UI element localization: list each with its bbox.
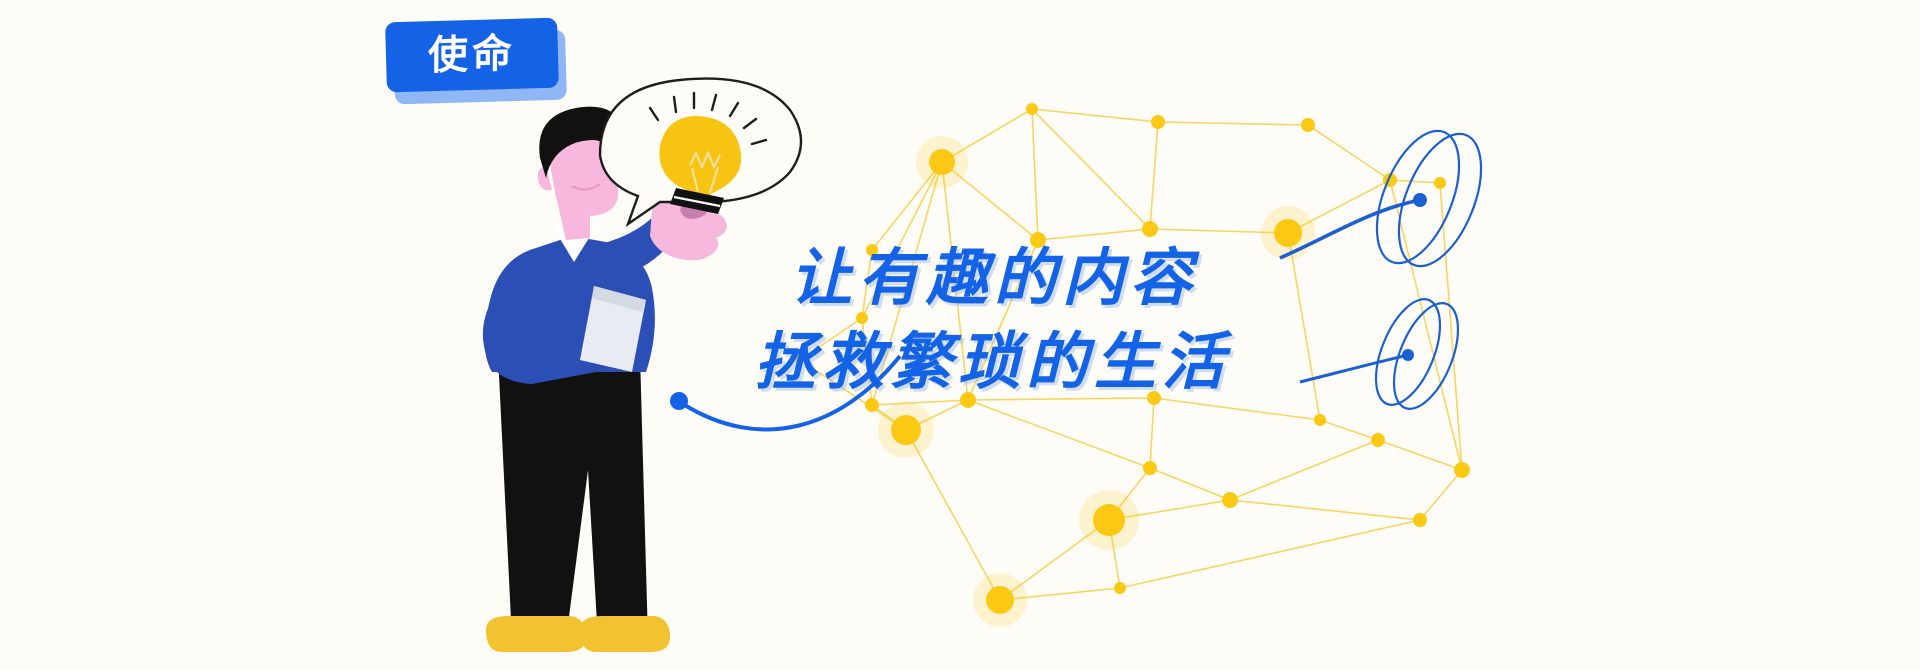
speech-bubble-with-lightbulb (0, 0, 1920, 670)
banner-canvas: 使命 让有趣的内容 拯救繁琐的生活 (0, 0, 1920, 670)
